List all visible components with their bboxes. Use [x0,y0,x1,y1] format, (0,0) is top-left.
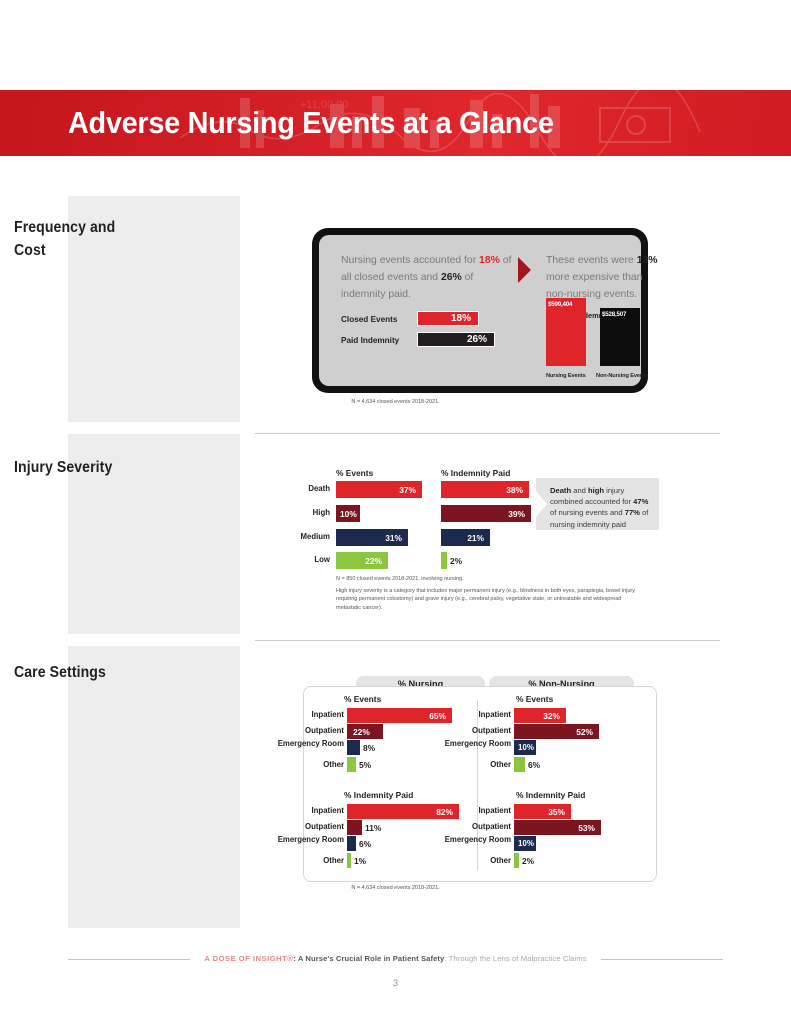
bar-label-closed-events: Closed Events [341,315,397,324]
avg-bar-value-non-nursing: $528,507 [602,311,626,318]
non-nursing-events-bar-emergency-room: 10% [514,740,536,755]
non-nursing-events-cat-outpatient: Outpatient [455,727,511,736]
bar-paid-indemnity: 26% [417,332,495,347]
frequency-statement-left: Nursing events accounted for 18% of all … [341,253,516,304]
injury-events-header: % Events [336,468,373,478]
bar-label-paid-indemnity: Paid Indemnity [341,336,399,345]
nursing-indemnity-bar-inpatient: 82% [347,804,459,819]
injury-note-1: N = 850 closed events 2018-2021, involvi… [336,576,464,582]
page-title: Adverse Nursing Events at a Glance [68,105,590,141]
nursing-indemnity-title: % Indemnity Paid [344,790,413,800]
non-nursing-events-bar-inpatient: 32% [514,708,566,723]
page-root: +11,00.00 Adverse Nursing Events at a Gl… [0,0,791,1023]
footer-caption: A DOSE OF INSIGHT®: A Nurse's Crucial Ro… [0,954,791,963]
non-nursing-events-title: % Events [516,694,553,704]
non-nursing-events-cat-other: Other [455,761,511,770]
non-nursing-indemnity-cat-inpatient: Inpatient [455,807,511,816]
non-nursing-events-cat-inpatient: Inpatient [455,711,511,720]
device-screen: Nursing events accounted for 18% of all … [319,235,641,386]
injury-category-low: Low [276,556,330,565]
nursing-indemnity-bar-outpatient: 11% [347,820,362,835]
non-nursing-indemnity-cat-emergency-room: Emergency Room [443,836,511,845]
avg-bar-value-nursing: $599,404 [548,301,572,308]
injury-events-bar-low: 22% [336,552,388,569]
arrow-separator-icon [518,257,531,283]
non-nursing-indemnity-cat-outpatient: Outpatient [455,823,511,832]
injury-callout: Death and high injury combined accounted… [536,478,659,530]
non-nursing-indemnity-cat-other: Other [455,857,511,866]
nursing-indemnity-cat-other: Other [288,857,344,866]
injury-indemnity-bar-high: 39% [441,505,531,522]
avg-bar-non-nursing-events: $528,507 [600,308,640,366]
section-label-frequency-and-cost: Frequency andCost [14,216,164,262]
section-divider-1 [255,433,720,434]
frequency-cost-note: N = 4,634 closed events 2018-2021. [0,399,791,405]
nursing-indemnity-cat-emergency-room: Emergency Room [276,836,344,845]
section-divider-2 [255,640,720,641]
nursing-events-bar-other: 5% [347,757,356,772]
section-label-injury-severity: Injury Severity [14,456,174,479]
injury-indemnity-bar-low: 2% [441,552,447,569]
non-nursing-indemnity-title: % Indemnity Paid [516,790,585,800]
frequency-cost-device-frame: Nursing events accounted for 18% of all … [312,228,648,393]
callout-arrow-icon [536,491,547,517]
care-settings-note: N = 4,634 closed events 2018-2021. [0,885,791,891]
injury-category-medium: Medium [276,533,330,542]
nursing-events-title: % Events [344,694,381,704]
avg-bar-caption-non-nursing: Non-Nursing Events [596,373,648,379]
page-number: 3 [0,978,791,988]
injury-indemnity-bar-medium: 21% [441,529,490,546]
non-nursing-events-bar-other: 6% [514,757,525,772]
bar-closed-events: 18% [417,311,479,326]
nursing-indemnity-cat-outpatient: Outpatient [288,823,344,832]
nursing-events-bar-inpatient: 65% [347,708,452,723]
avg-bar-caption-nursing: Nursing Events [546,373,586,379]
frequency-statement-right: These events were 13% more expensive tha… [546,253,666,304]
injury-events-bar-high: 10% [336,505,360,522]
nursing-indemnity-bar-other: 1% [347,853,351,868]
injury-indemnity-bar-death: 38% [441,481,529,498]
section-label-care-settings: Care Settings [14,661,174,684]
injury-events-bar-death: 37% [336,481,422,498]
nursing-events-cat-inpatient: Inpatient [288,711,344,720]
non-nursing-indemnity-bar-outpatient: 53% [514,820,601,835]
injury-category-high: High [276,509,330,518]
injury-note-2: High injury severity is a category that … [336,587,636,612]
non-nursing-events-cat-emergency-room: Emergency Room [443,740,511,749]
avg-bar-nursing-events: $599,404 [546,298,586,366]
non-nursing-indemnity-bar-other: 2% [514,853,519,868]
injury-events-bar-medium: 31% [336,529,408,546]
nursing-indemnity-cat-inpatient: Inpatient [288,807,344,816]
nursing-events-cat-other: Other [288,761,344,770]
injury-category-death: Death [276,485,330,494]
page-header-banner: +11,00.00 Adverse Nursing Events at a Gl… [0,90,791,156]
non-nursing-indemnity-bar-emergency-room: 10% [514,836,536,851]
nursing-events-cat-emergency-room: Emergency Room [276,740,344,749]
nursing-events-bar-emergency-room: 8% [347,740,360,755]
nursing-events-cat-outpatient: Outpatient [288,727,344,736]
non-nursing-indemnity-bar-inpatient: 35% [514,804,571,819]
non-nursing-events-bar-outpatient: 52% [514,724,599,739]
nursing-indemnity-bar-emergency-room: 6% [347,836,356,851]
nursing-events-bar-outpatient: 22% [347,724,383,739]
injury-indemnity-header: % Indemnity Paid [441,468,510,478]
